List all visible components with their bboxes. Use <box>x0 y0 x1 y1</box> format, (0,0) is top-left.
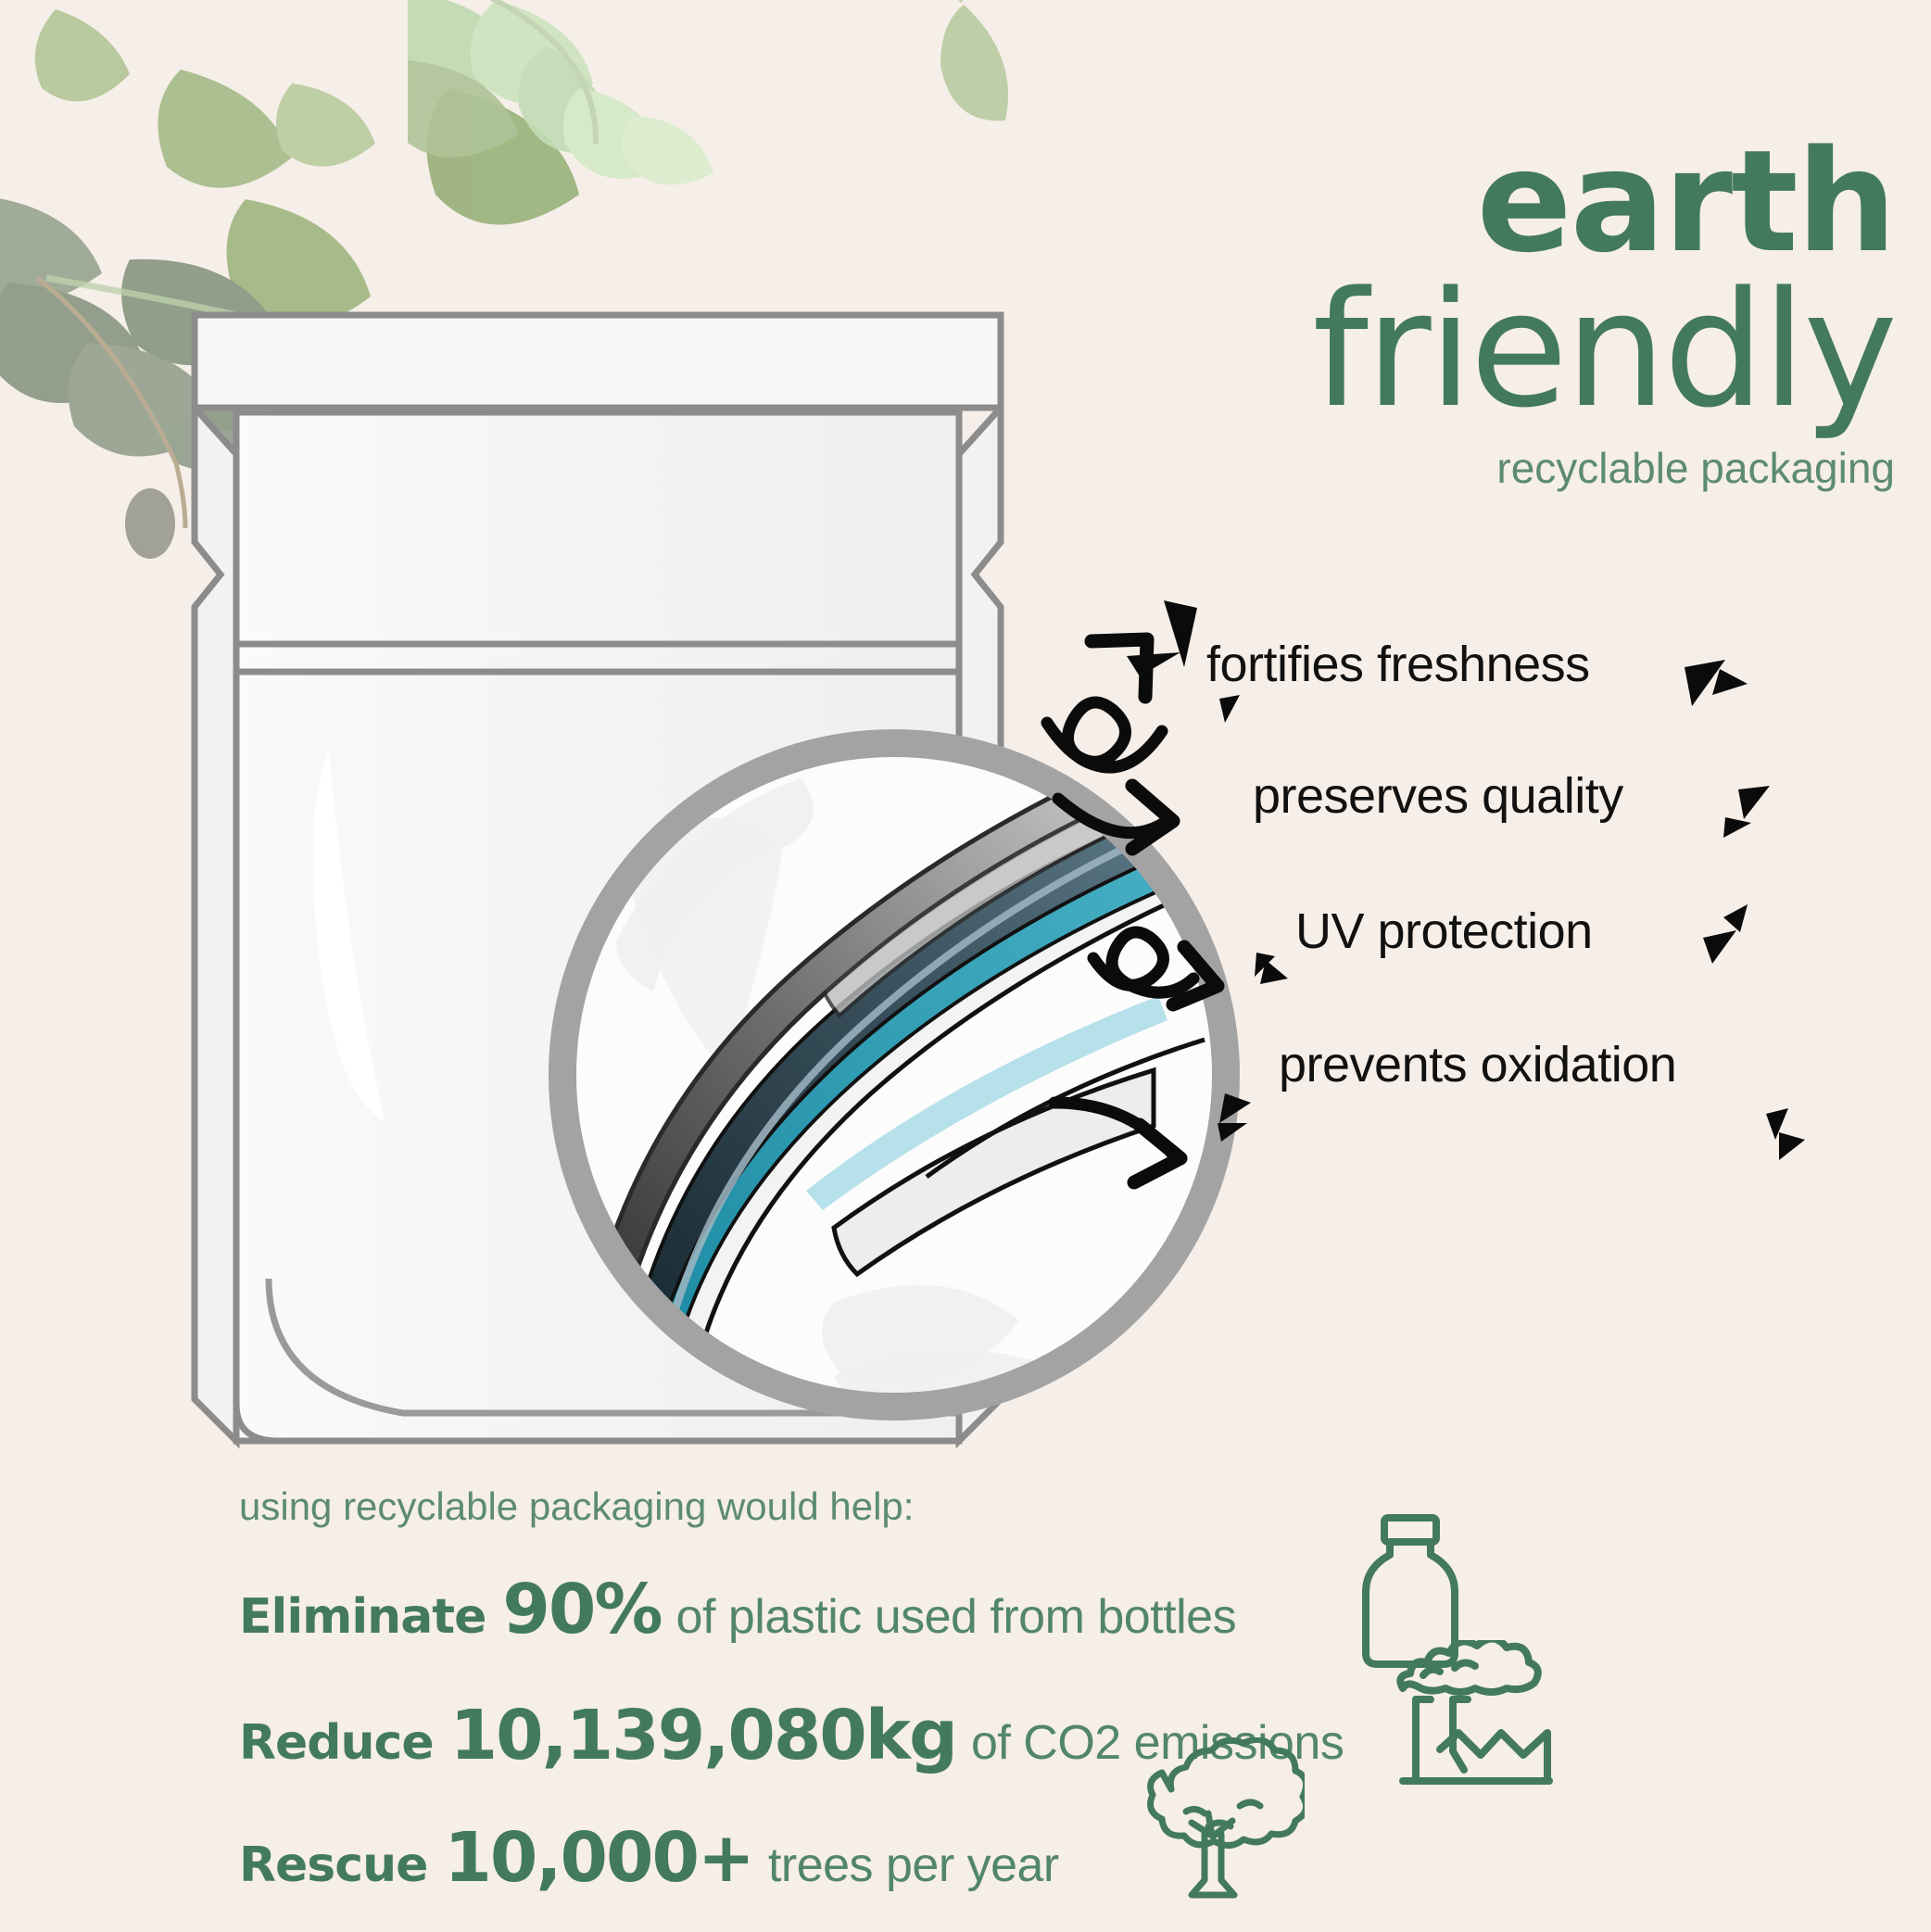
stat-verb: Eliminate <box>239 1589 486 1645</box>
headline-line-1: earth <box>1126 130 1895 273</box>
stat-verb: Rescue <box>239 1837 427 1893</box>
headline-line-2: friendly <box>1126 268 1895 434</box>
tree-icon <box>1119 1737 1305 1904</box>
stat-verb: Reduce <box>239 1715 434 1771</box>
feature-callouts: fortifies freshness preserves quality UV… <box>1140 593 1918 1242</box>
headline-block: earth friendly recyclable packaging <box>1126 130 1895 493</box>
feature-label-preserves-quality: preserves quality <box>1253 767 1623 825</box>
stat-value: 90% <box>502 1570 661 1649</box>
feature-label-fortifies-freshness: fortifies freshness <box>1206 636 1590 693</box>
stat-row-rescue: Rescue 10,000+ trees per year <box>239 1818 1629 1898</box>
stat-value: 10,000+ <box>444 1818 753 1898</box>
stat-tail: of plastic used from bottles <box>676 1589 1237 1645</box>
feature-label-uv-protection: UV protection <box>1295 903 1593 960</box>
feature-label-prevents-oxidation: prevents oxidation <box>1279 1036 1676 1093</box>
stat-value: 10,139,080kg <box>450 1696 956 1775</box>
leaf-decoration-top-center <box>408 0 1056 297</box>
factory-icon <box>1390 1640 1575 1788</box>
stat-tail: trees per year <box>768 1837 1059 1893</box>
headline-subtitle: recyclable packaging <box>1126 443 1895 493</box>
infographic-canvas: earth friendly recyclable packaging <box>0 0 1931 1932</box>
